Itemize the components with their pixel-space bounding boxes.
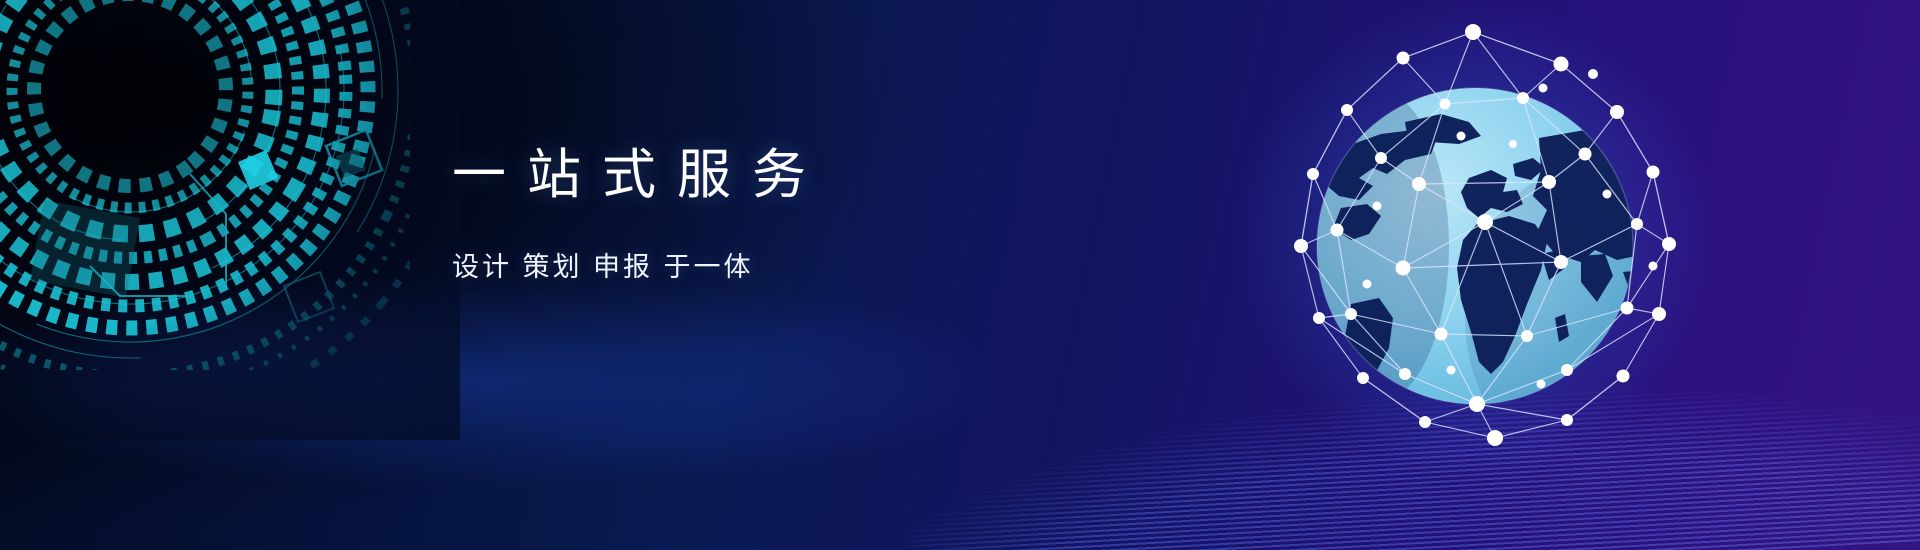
banner-subtitle: 设计 策划 申报 于一体 <box>452 254 1172 281</box>
network-globe-icon <box>1255 18 1695 458</box>
text-block: 一站式服务 设计 策划 申报 于一体 <box>452 148 1172 281</box>
hero-banner: 一站式服务 设计 策划 申报 于一体 <box>0 0 1920 550</box>
banner-title: 一站式服务 <box>452 148 1172 202</box>
